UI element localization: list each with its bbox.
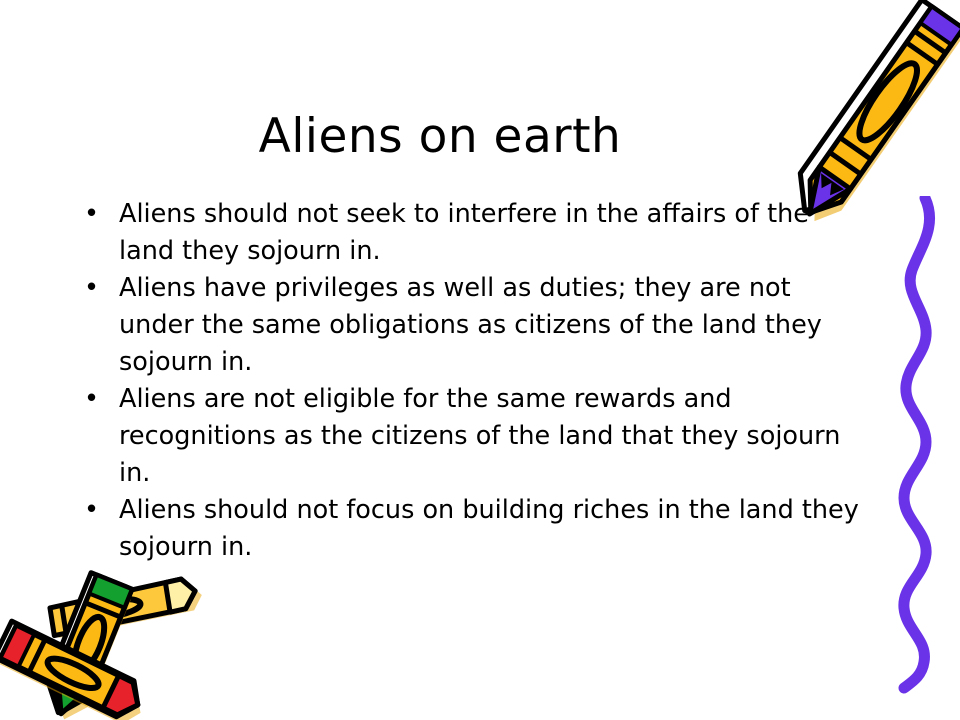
bullet-list: • Aliens should not seek to interfere in… [78, 196, 868, 566]
red-crayon [0, 621, 152, 720]
bullet-text: Aliens should not seek to interfere in t… [119, 199, 809, 266]
purple-crayon-squiggle-icon [880, 196, 960, 696]
bullet-dot-icon: • [84, 492, 104, 529]
bullet-item: • Aliens should not focus on building ri… [78, 492, 868, 566]
bullet-item: • Aliens are not eligible for the same r… [78, 381, 868, 492]
green-crayon [36, 573, 134, 720]
bullet-text: Aliens have privileges as well as duties… [119, 273, 822, 377]
bullet-text: Aliens should not focus on building rich… [119, 495, 859, 562]
bullet-dot-icon: • [84, 381, 104, 418]
bullet-dot-icon: • [84, 270, 104, 307]
bullet-item: • Aliens should not seek to interfere in… [78, 196, 868, 270]
bullet-text: Aliens are not eligible for the same rew… [119, 384, 840, 488]
crayon-trio-icon [0, 566, 204, 720]
yellow-crayon [49, 576, 204, 638]
bullet-dot-icon: • [84, 196, 104, 233]
bullet-item: • Aliens have privileges as well as duti… [78, 270, 868, 381]
slide-title: Aliens on earth [0, 112, 880, 161]
presentation-slide: Aliens on earth • Aliens should not seek… [0, 0, 960, 720]
